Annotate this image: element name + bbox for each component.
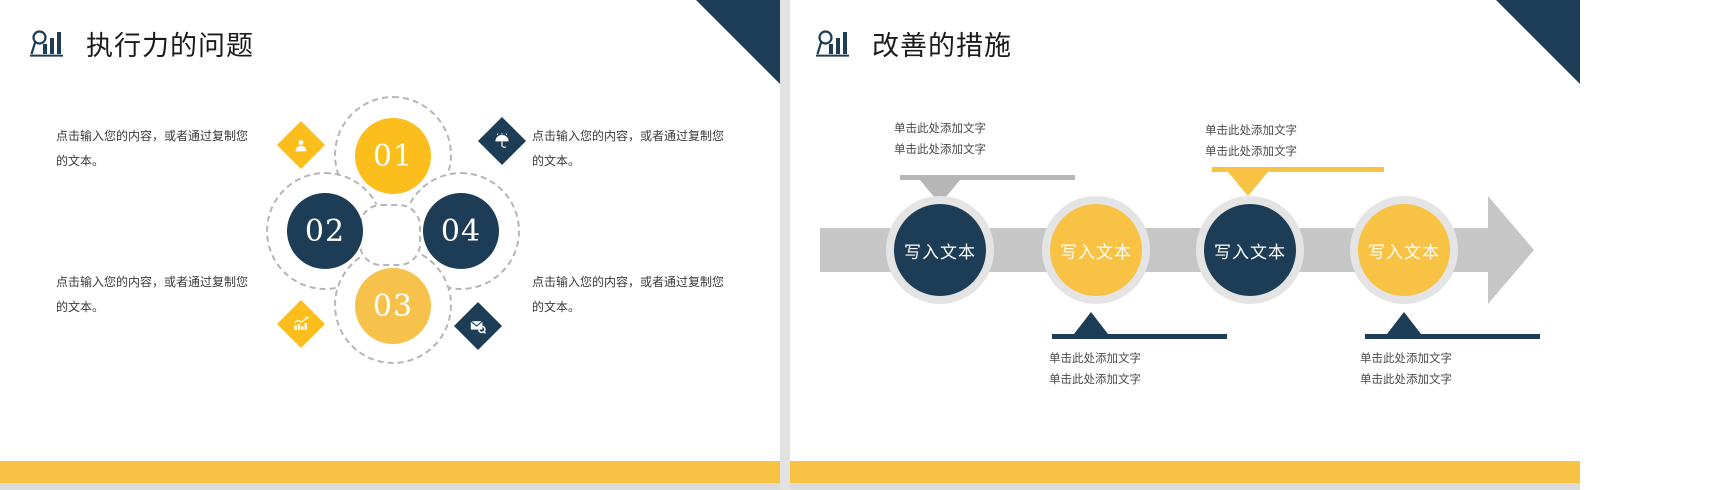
callout-text-3-line1: 单击此处添加文字 <box>1161 120 1341 141</box>
clover-node-02[interactable]: 02 <box>287 193 363 269</box>
timeline-node-3-label: 写入文本 <box>1214 238 1286 263</box>
clover-node-01-number: 01 <box>373 139 413 174</box>
callout-text-4-line2: 单击此处添加文字 <box>1316 369 1496 390</box>
callout-pointer-2 <box>1074 312 1108 334</box>
umbrella-rain-icon <box>494 133 510 149</box>
callout-text-4-line1: 单击此处添加文字 <box>1316 348 1496 369</box>
diamond-icon-top-right[interactable] <box>478 117 526 165</box>
clover-node-04[interactable]: 04 <box>423 193 499 269</box>
page-title: 执行力的问题 <box>86 24 254 63</box>
callout-text-1-line2: 单击此处添加文字 <box>850 139 1030 160</box>
slide-divider <box>780 0 790 490</box>
footer-grey-bar-right <box>790 483 1580 490</box>
callout-text-4: 单击此处添加文字 单击此处添加文字 <box>1316 348 1496 391</box>
timeline-node-3[interactable]: 写入文本 <box>1196 196 1304 304</box>
slide-improvement-measures: 改善的措施 单击此处添加文字 单击此处添加文字 单击此处添加文字 单击此处添加文… <box>790 0 1580 490</box>
callout-text-3: 单击此处添加文字 单击此处添加文字 <box>1161 120 1341 163</box>
timeline-node-2-label: 写入文本 <box>1060 238 1132 263</box>
body-text-top-right: 点击输入您的内容，或者通过复制您的文本。 <box>532 124 732 174</box>
process-timeline: 单击此处添加文字 单击此处添加文字 单击此处添加文字 单击此处添加文字 单击此处… <box>790 0 1580 490</box>
corner-triangle-decoration <box>696 0 780 84</box>
bar-chart-analytics-icon <box>30 27 64 61</box>
timeline-node-4[interactable]: 写入文本 <box>1350 196 1458 304</box>
center-dashed-square <box>359 204 421 266</box>
diamond-icon-bottom-left[interactable] <box>277 300 325 348</box>
clover-node-01[interactable]: 01 <box>355 118 431 194</box>
callout-pointer-3 <box>1228 172 1268 196</box>
slide-title-row: 执行力的问题 <box>30 24 254 63</box>
body-text-top-left: 点击输入您的内容，或者通过复制您的文本。 <box>56 124 256 174</box>
callout-text-3-line2: 单击此处添加文字 <box>1161 141 1341 162</box>
callout-rule-4 <box>1365 334 1540 339</box>
callout-text-1-line1: 单击此处添加文字 <box>850 118 1030 139</box>
clover-node-02-number: 02 <box>305 214 345 249</box>
diamond-icon-bottom-right[interactable] <box>454 302 502 350</box>
body-text-bottom-right: 点击输入您的内容，或者通过复制您的文本。 <box>532 270 732 320</box>
clover-node-03[interactable]: 03 <box>355 268 431 344</box>
user-profile-icon <box>294 138 309 153</box>
callout-text-2-line1: 单击此处添加文字 <box>1005 348 1185 369</box>
body-text-bottom-left: 点击输入您的内容，或者通过复制您的文本。 <box>56 270 256 320</box>
timeline-node-1-label: 写入文本 <box>904 238 976 263</box>
footer-accent-bar-right <box>790 461 1580 483</box>
growth-chart-icon <box>293 316 309 332</box>
mail-search-icon <box>470 318 486 334</box>
clover-diagram: 01 02 03 04 <box>258 96 528 368</box>
timeline-node-1[interactable]: 写入文本 <box>886 196 994 304</box>
slide-deck: 执行力的问题 点击输入您的内容，或者通过复制您的文本。 点击输入您的内容，或者通… <box>0 0 1720 490</box>
callout-text-2-line2: 单击此处添加文字 <box>1005 369 1185 390</box>
callout-pointer-4 <box>1387 312 1421 334</box>
footer-accent-bar <box>0 461 780 483</box>
deck-right-margin <box>1580 0 1720 490</box>
timeline-node-4-label: 写入文本 <box>1368 238 1440 263</box>
clover-node-03-number: 03 <box>373 289 413 324</box>
callout-text-2: 单击此处添加文字 单击此处添加文字 <box>1005 348 1185 391</box>
clover-node-04-number: 04 <box>441 214 481 249</box>
timeline-arrow-head <box>1488 196 1534 304</box>
footer-grey-bar <box>0 483 780 490</box>
slide-execution-problems: 执行力的问题 点击输入您的内容，或者通过复制您的文本。 点击输入您的内容，或者通… <box>0 0 780 490</box>
timeline-node-2[interactable]: 写入文本 <box>1042 196 1150 304</box>
callout-rule-2 <box>1052 334 1227 339</box>
diamond-icon-top-left[interactable] <box>277 121 325 169</box>
callout-text-1: 单击此处添加文字 单击此处添加文字 <box>850 118 1030 161</box>
